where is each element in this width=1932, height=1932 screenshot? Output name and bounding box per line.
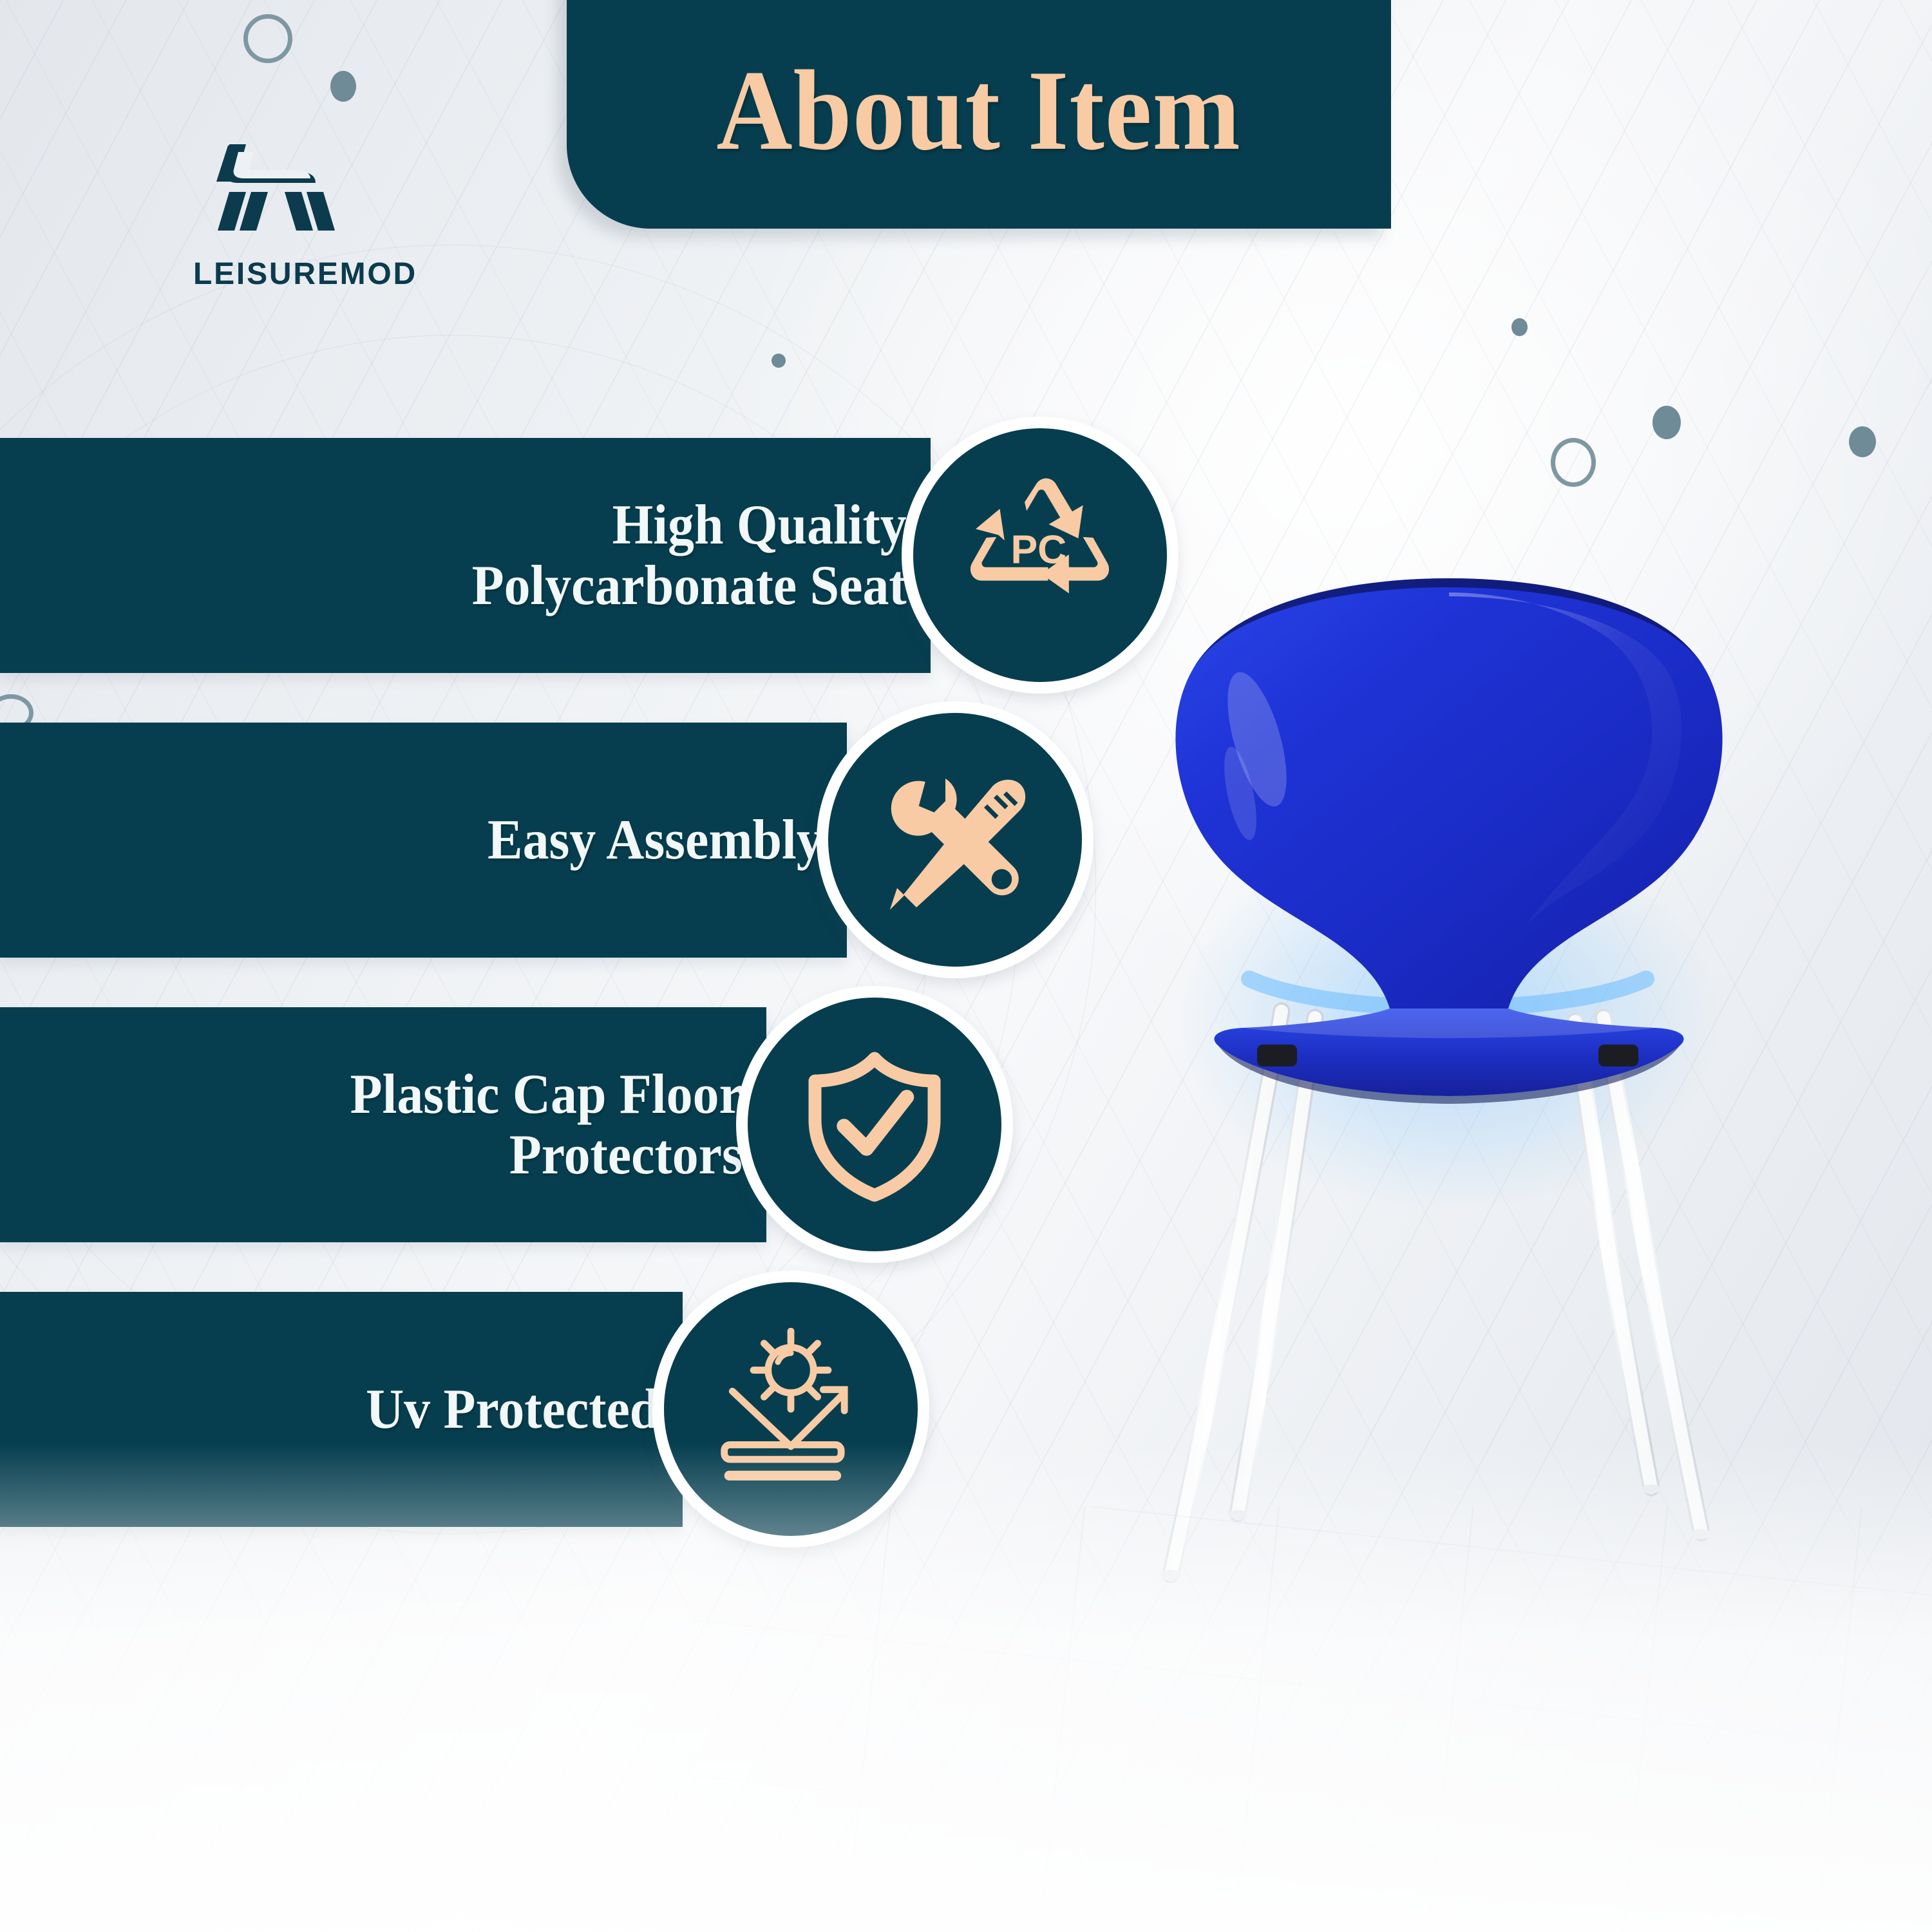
uv-sun-reflect-icon — [710, 1328, 872, 1490]
decor-dot — [1849, 426, 1876, 457]
page-title-banner: About Item — [567, 0, 1391, 229]
brand-logo: LEISUREMOD — [193, 142, 406, 292]
lounge-chair-logo-icon — [193, 142, 406, 245]
infographic-poster: LEISUREMOD About Item High Quality Polyc… — [0, 0, 1932, 1932]
feature-bar: Plastic Cap Floor Protectors — [0, 1007, 766, 1242]
shield-check-icon — [794, 1044, 955, 1205]
feature-icon-badge — [736, 986, 1013, 1263]
feature-bar: High Quality Polycarbonate Seat — [0, 438, 931, 673]
brand-name: LEISUREMOD — [193, 256, 406, 292]
feature-label: High Quality Polycarbonate Seat — [472, 495, 931, 616]
decor-dot — [1511, 318, 1528, 336]
decor-dot — [330, 71, 356, 102]
product-image-blue-chair — [1088, 567, 1810, 1662]
feature-bar: Easy Assembly — [0, 723, 847, 958]
feature-label: Plastic Cap Floor Protectors — [350, 1065, 766, 1185]
page-title: About Item — [717, 53, 1241, 167]
feature-bar: Uv Protected — [0, 1292, 683, 1527]
decor-dot-ring — [243, 14, 292, 63]
feature-icon-badge — [817, 701, 1094, 978]
recycle-code-text: PC — [1011, 527, 1067, 573]
decor-dot — [1653, 406, 1681, 439]
decor-dot-ring — [1551, 438, 1596, 487]
feature-icon-badge — [652, 1271, 929, 1548]
wrench-screwdriver-icon — [875, 759, 1036, 920]
decor-dot — [772, 354, 786, 368]
feature-label: Easy Assembly — [488, 810, 847, 870]
feature-label: Uv Protected — [366, 1379, 683, 1439]
